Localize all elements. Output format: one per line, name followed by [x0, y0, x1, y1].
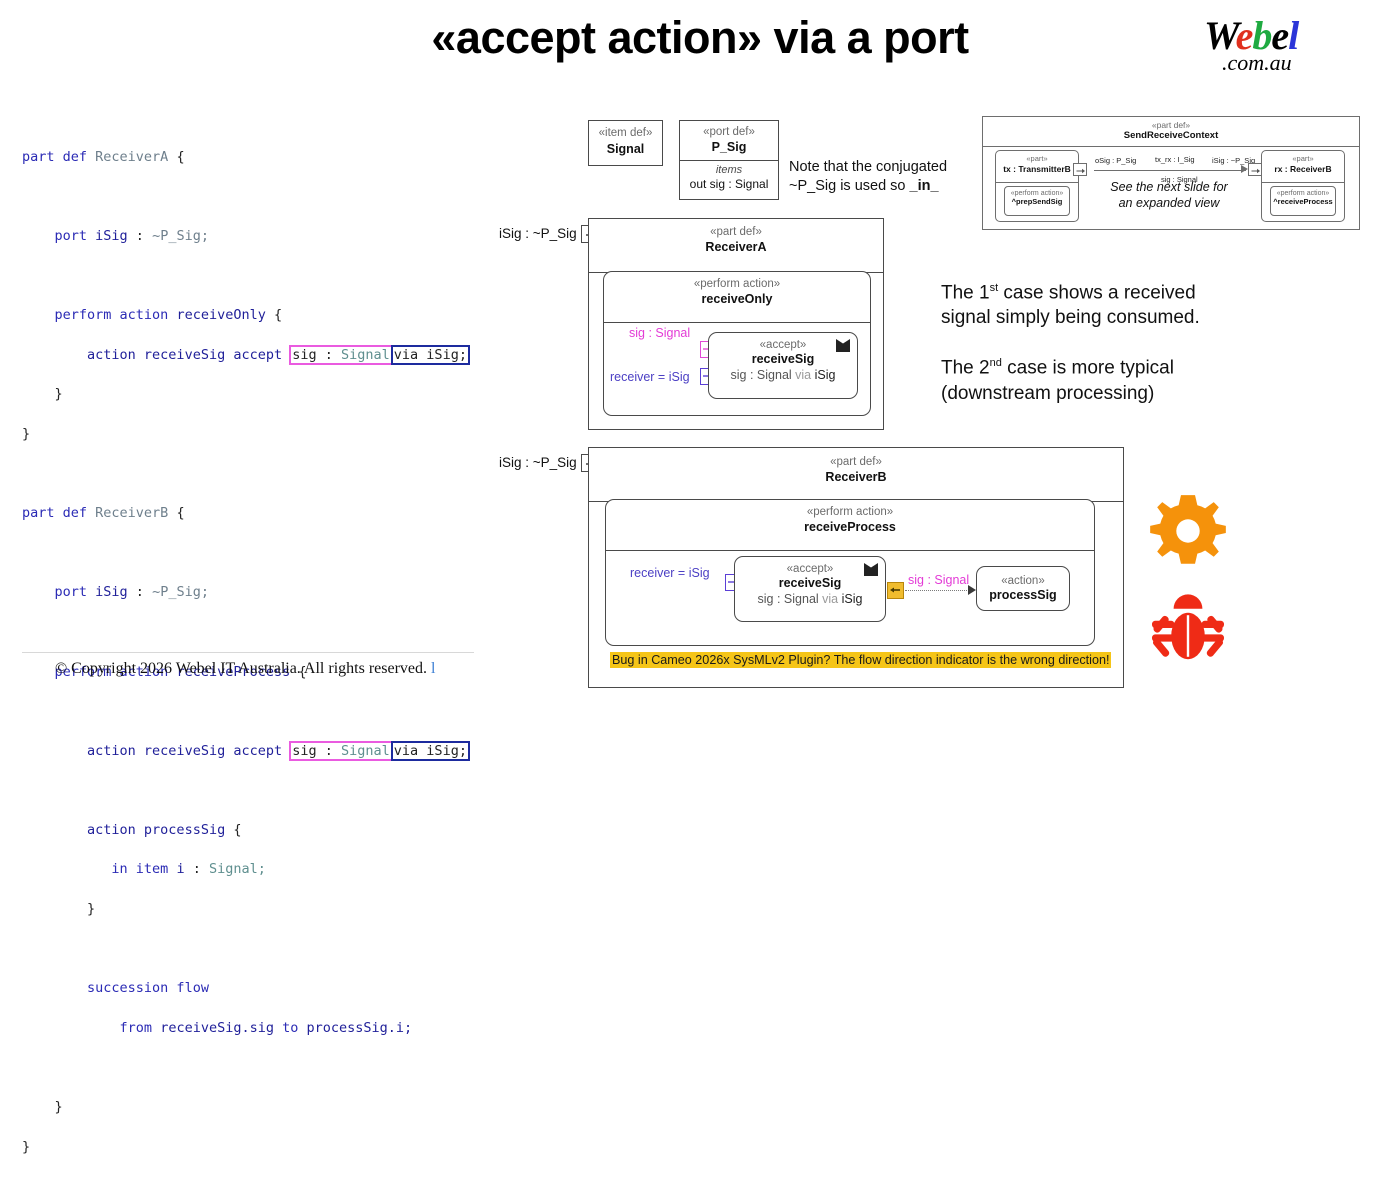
item-def-name: Signal: [589, 142, 662, 156]
accept-signature-payload-B: sig : Signal: [758, 592, 823, 606]
ctx-note: See the next slide for an expanded view: [1093, 179, 1245, 211]
ctx-label-txrx: tx_rx : I_Sig: [1155, 155, 1195, 164]
port-def-items-value: out sig : Signal: [680, 177, 778, 191]
ctx-action-receiveprocess-stereotype: «perform action»: [1271, 190, 1335, 197]
explanation-p1-sup: st: [990, 282, 999, 294]
copyright-text: © Copyright 2026 Webel IT Australia. All…: [55, 660, 427, 677]
code-line: [22, 781, 474, 801]
copyright-notice: © Copyright 2026 Webel IT Australia. All…: [55, 660, 435, 678]
accept-signature-via-A: via: [795, 368, 814, 382]
accept-name-B: receiveSig: [735, 576, 885, 590]
perform-receiveOnly-stereotype: «perform action»: [604, 278, 870, 290]
accept-event-flag-icon: [836, 339, 850, 352]
part-def-receiverA-box: «part def» ReceiverA «perform action» re…: [588, 218, 884, 430]
ctx-action-receiveprocess[interactable]: «perform action» ^receiveProcess: [1270, 186, 1336, 216]
code-line: [22, 465, 474, 485]
accept-event-flag-icon: [864, 563, 878, 576]
code-line: action receiveSig accept sig : Signalvia…: [22, 346, 474, 366]
pin-label-receiver-isig-B: receiver = iSig: [630, 566, 710, 580]
note-conjugated-emphasis: _in_: [910, 178, 939, 194]
port-def-items-label: items: [680, 164, 778, 176]
action-processSig-stereotype: «action»: [977, 575, 1069, 587]
ctx-tx-port-marker: [1073, 163, 1087, 176]
code-line: action processSig {: [22, 821, 474, 841]
bug-icon: [1148, 588, 1228, 668]
perform-receiveProcess-divider: [606, 550, 1094, 551]
flow-label-sig-signal: sig : Signal: [908, 573, 969, 587]
ctx-action-prepsendsig-name: ^prepSendSig: [1005, 197, 1069, 206]
explanation-paragraph-2: The 2nd case is more typical (downstream…: [941, 351, 1271, 405]
gear-icon: [1147, 492, 1229, 570]
perform-receiveProcess-stereotype: «perform action»: [606, 506, 1094, 518]
copyright-link[interactable]: l: [431, 660, 435, 677]
code-line: perform action receiveOnly {: [22, 306, 474, 326]
part-def-receiverB-stereotype: «part def»: [589, 456, 1123, 468]
accept-signature-port-B: iSig: [842, 592, 863, 606]
accept-signature-B: sig : Signal via iSig: [735, 592, 885, 606]
ctx-action-prepsendsig-stereotype: «perform action»: [1005, 190, 1069, 197]
ctx-action-receiveprocess-name: ^receiveProcess: [1271, 197, 1335, 206]
explanation-p2-sup: nd: [990, 357, 1002, 369]
ctx-part-tx-divider: [996, 182, 1078, 183]
bug-note-highlight: Bug in Cameo 2026x SysMLv2 Plugin? The f…: [610, 652, 1111, 668]
pin-label-sig-signal: sig : Signal: [629, 326, 690, 340]
accept-action-receiveSig-box-A[interactable]: «accept» receiveSig sig : Signal via iSi…: [708, 332, 858, 399]
code-highlight-via-port: via iSig;: [391, 345, 470, 365]
part-def-receiverA-header: «part def» ReceiverA: [589, 226, 883, 272]
code-line: }: [22, 900, 474, 920]
perform-receiveOnly-name: receiveOnly: [604, 292, 870, 306]
accept-signature-A: sig : Signal via iSig: [709, 368, 857, 382]
ctx-part-tx-stereotype: «part»: [996, 154, 1078, 163]
explanation-p2-c: (downstream processing): [941, 383, 1154, 404]
perform-action-receiveOnly-box: «perform action» receiveOnly sig : Signa…: [603, 271, 871, 416]
perform-action-receiveProcess-box: «perform action» receiveProcess receiver…: [605, 499, 1095, 646]
logo-domain: .com.au: [1222, 50, 1334, 76]
action-processSig-name: processSig: [977, 588, 1069, 602]
part-def-receiverB-header: «part def» ReceiverB: [589, 456, 1123, 501]
ctx-part-tx[interactable]: «part» tx : TransmitterB «perform action…: [995, 150, 1079, 222]
ctx-rx-port-marker: [1248, 163, 1262, 176]
part-def-receiverA-stereotype: «part def»: [589, 226, 883, 238]
ctx-action-prepsendsig[interactable]: «perform action» ^prepSendSig: [1004, 186, 1070, 216]
explanation-p1-a: The 1: [941, 282, 990, 303]
item-def-signal-box: «item def» Signal: [588, 120, 663, 166]
pin-label-receiver-isig: receiver = iSig: [610, 370, 690, 384]
page-title: «accept action» via a port: [0, 12, 1400, 64]
part-def-receiverB-box: «part def» ReceiverB «perform action» re…: [588, 447, 1124, 688]
code-line: port iSig : ~P_Sig;: [22, 227, 474, 247]
code-line: [22, 623, 474, 643]
note-conjugated-line1: Note that the conjugated: [789, 158, 959, 177]
ctx-part-rx-header: «part» rx : ReceiverB: [1262, 154, 1344, 182]
code-line: [22, 702, 474, 722]
explanation-p2-a: The 2: [941, 358, 990, 379]
explanation-p1-b: case shows a received: [998, 282, 1196, 303]
explanation-paragraph-1: The 1st case shows a received signal sim…: [941, 276, 1271, 330]
code-highlight-via-port: via iSig;: [391, 741, 470, 761]
ctx-note-line1: See the next slide for: [1093, 179, 1245, 195]
receiverA-port-label: iSig : ~P_Sig: [499, 226, 577, 241]
item-def-stereotype: «item def»: [589, 127, 662, 139]
code-line: }: [22, 1098, 474, 1118]
perform-receiveProcess-header: «perform action» receiveProcess: [606, 506, 1094, 550]
port-def-stereotype: «port def»: [680, 126, 778, 138]
ctx-part-rx-name: rx : ReceiverB: [1262, 164, 1344, 174]
ctx-connector-arrowhead: [1241, 165, 1248, 173]
code-line: succession flow: [22, 979, 474, 999]
accept-name-A: receiveSig: [709, 352, 857, 366]
receiverB-port-label: iSig : ~P_Sig: [499, 455, 577, 470]
part-def-sendreceivecontext-box: «part def» SendReceiveContext «part» tx …: [982, 116, 1360, 230]
code-highlight-accept-payload: sig : Signal: [289, 741, 393, 761]
ctx-header: «part def» SendReceiveContext: [983, 120, 1359, 146]
ctx-name: SendReceiveContext: [983, 130, 1359, 141]
code-line: }: [22, 1138, 474, 1158]
accept-signature-port-A: iSig: [815, 368, 836, 382]
note-conjugated: Note that the conjugated ~P_Sig is used …: [789, 158, 959, 196]
perform-receiveProcess-name: receiveProcess: [606, 520, 1094, 534]
ctx-part-tx-header: «part» tx : TransmitterB: [996, 154, 1078, 182]
pin-output-flow-gold[interactable]: [887, 582, 904, 599]
perform-receiveOnly-divider: [604, 322, 870, 323]
explanation-p1-c: signal simply being consumed.: [941, 307, 1200, 328]
code-line: in item i : Signal;: [22, 860, 474, 880]
port-def-psig-box: «port def» P_Sig items out sig : Signal: [679, 120, 779, 200]
accept-stereotype-A: «accept»: [709, 339, 857, 351]
code-line: part def ReceiverB {: [22, 504, 474, 524]
ctx-divider: [983, 146, 1359, 147]
ctx-part-tx-name: tx : TransmitterB: [996, 164, 1078, 174]
ctx-note-line2: an expanded view: [1093, 195, 1245, 211]
footer-divider: [22, 652, 474, 653]
ctx-part-rx-divider: [1262, 182, 1344, 183]
code-line: }: [22, 385, 474, 405]
code-line: [22, 544, 474, 564]
ctx-connector-line: [1094, 170, 1246, 171]
compartment-divider: [680, 160, 778, 161]
ctx-part-rx-stereotype: «part»: [1262, 154, 1344, 163]
port-direction-arrow-icon: [1074, 165, 1087, 177]
action-processSig-box[interactable]: «action» processSig: [976, 566, 1070, 611]
code-line: from receiveSig.sig to processSig.i;: [22, 1019, 474, 1039]
port-def-name: P_Sig: [680, 140, 778, 154]
code-line: [22, 187, 474, 207]
part-def-receiverB-name: ReceiverB: [589, 470, 1123, 484]
code-line: port iSig : ~P_Sig;: [22, 583, 474, 603]
ctx-label-osig: oSig : P_Sig: [1095, 156, 1136, 165]
ctx-part-rx[interactable]: «part» rx : ReceiverB «perform action» ^…: [1261, 150, 1345, 222]
accept-action-receiveSig-box-B[interactable]: «accept» receiveSig sig : Signal via iSi…: [734, 556, 886, 622]
accept-signature-via-B: via: [822, 592, 841, 606]
succession-flow-arrowhead: [968, 585, 976, 595]
code-line: action receiveSig accept sig : Signalvia…: [22, 742, 474, 762]
webel-logo: Webel .com.au: [1204, 16, 1334, 78]
note-conjugated-line2: ~P_Sig is used so _in_: [789, 177, 959, 196]
part-def-receiverA-name: ReceiverA: [589, 240, 883, 254]
code-line: [22, 1058, 474, 1078]
ctx-stereotype: «part def»: [983, 120, 1359, 130]
code-line: part def ReceiverA {: [22, 148, 474, 168]
accept-stereotype-B: «accept»: [735, 563, 885, 575]
perform-receiveOnly-header: «perform action» receiveOnly: [604, 278, 870, 322]
succession-flow-line: [905, 590, 971, 592]
code-highlight-accept-payload: sig : Signal: [289, 345, 393, 365]
explanation-p2-b: case is more typical: [1002, 358, 1174, 379]
code-line: }: [22, 425, 474, 445]
accept-signature-payload-A: sig : Signal: [731, 368, 796, 382]
explanation-text: The 1st case shows a received signal sim…: [941, 276, 1271, 406]
code-line: [22, 267, 474, 287]
pin-arrow-left-icon: [888, 583, 902, 597]
note-conjugated-line2-a: ~P_Sig is used so: [789, 178, 910, 194]
code-line: [22, 940, 474, 960]
